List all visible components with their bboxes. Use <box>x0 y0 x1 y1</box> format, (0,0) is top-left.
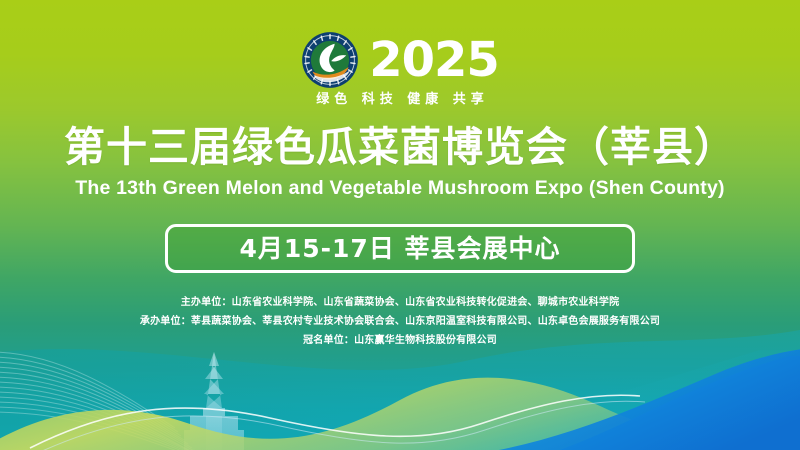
slogan-text: 绿色 科技 健康 共享 <box>0 88 800 107</box>
organizer-line-title-sponsor: 冠名单位：山东赢华生物科技股份有限公司 <box>0 331 800 350</box>
organizer-line-host: 主办单位：山东省农业科学院、山东省蔬菜协会、山东省农业科技转化促进会、聊城市农业… <box>0 293 800 312</box>
green-expo-emblem-icon <box>301 31 359 89</box>
year-label: 2025 <box>369 36 499 84</box>
expo-poster: 2025 绿色 科技 健康 共享 第十三届绿色瓜菜菌博览会（莘县） The 13… <box>0 0 800 450</box>
organizer-block: 主办单位：山东省农业科学院、山东省蔬菜协会、山东省农业科技转化促进会、聊城市农业… <box>0 293 800 350</box>
organizer-line-undertaker: 承办单位：莘县蔬菜协会、莘县农村专业技术协会联合会、山东京阳温室科技有限公司、山… <box>0 312 800 331</box>
logo-row: 2025 <box>0 30 800 90</box>
page-title-english: The 13th Green Melon and Vegetable Mushr… <box>0 176 800 200</box>
page-title-chinese: 第十三届绿色瓜菜菌博览会（莘县） <box>0 124 800 170</box>
pagoda-silhouette <box>184 352 244 450</box>
date-venue-banner: 4月15-17日 莘县会展中心 <box>165 224 635 273</box>
wave-ribbons <box>0 352 220 450</box>
date-venue-text: 4月15-17日 莘县会展中心 <box>239 235 560 263</box>
